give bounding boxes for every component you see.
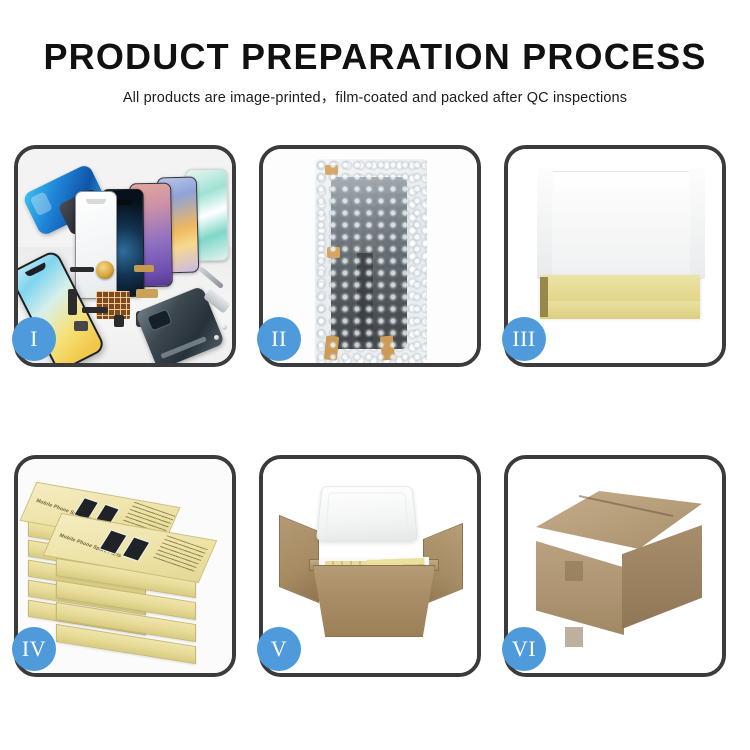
camera-lens-icon (146, 309, 172, 332)
step-badge-6: VI (502, 627, 546, 671)
box-label-phone-image (122, 536, 151, 561)
tape-tab-icon (380, 335, 395, 360)
screw-icon (222, 325, 227, 330)
process-step-card-3[interactable]: III (504, 145, 726, 367)
process-step-card-1[interactable]: I (14, 145, 236, 367)
header: PRODUCT PREPARATION PROCESS All products… (0, 38, 750, 107)
carton-tape-icon (565, 561, 583, 581)
sim-tray-icon (114, 315, 124, 327)
tape-tab-icon (324, 335, 339, 360)
yellow-box-front-icon (540, 301, 700, 319)
foam-lid-icon (316, 486, 418, 541)
step-badge-1: I (12, 317, 56, 361)
step-badge-4: IV (12, 627, 56, 671)
shipping-carton-left-face-icon (536, 541, 624, 635)
tape-tab-icon (325, 165, 338, 175)
process-step-card-6[interactable]: VI (504, 455, 726, 677)
yellow-box-side-icon (540, 277, 548, 317)
speaker-coil-icon (96, 261, 114, 279)
page-subtitle: All products are image-printed，film-coat… (0, 86, 750, 107)
page-title: PRODUCT PREPARATION PROCESS (0, 38, 750, 76)
process-step-card-5[interactable]: V (259, 455, 481, 677)
process-step-card-4[interactable]: Mobile Phone Spare Parts Mobile Phone Sp… (14, 455, 236, 677)
product-preparation-infographic: PRODUCT PREPARATION PROCESS All products… (0, 0, 750, 750)
phone-white-glass-icon (75, 191, 117, 299)
chip-board-icon (96, 291, 130, 319)
white-foam-sheet-icon (552, 189, 690, 273)
bubble-wrap-bag-icon (315, 159, 427, 363)
box-stack-icon: Mobile Phone Spare Parts Mobile Phone Sp… (24, 477, 232, 667)
screw-icon (214, 335, 219, 340)
ribbon-cable-icon (82, 307, 108, 313)
process-step-grid: I II (14, 145, 736, 677)
carton-tape-icon (565, 627, 583, 647)
gold-flex-icon (136, 289, 158, 298)
vibrator-motor-icon (74, 321, 88, 331)
tape-tab-icon (327, 247, 340, 258)
step-badge-5: V (257, 627, 301, 671)
step-badge-3: III (502, 317, 546, 361)
carton-body-icon (313, 565, 435, 637)
gold-connector-icon (134, 265, 154, 272)
side-flex-icon (68, 289, 77, 315)
lcd-screen-icon (331, 177, 407, 349)
step-badge-2: II (257, 317, 301, 361)
box-label-spec-lines (153, 535, 208, 572)
flex-cable-icon (70, 267, 94, 272)
process-step-card-2[interactable]: II (259, 145, 481, 367)
